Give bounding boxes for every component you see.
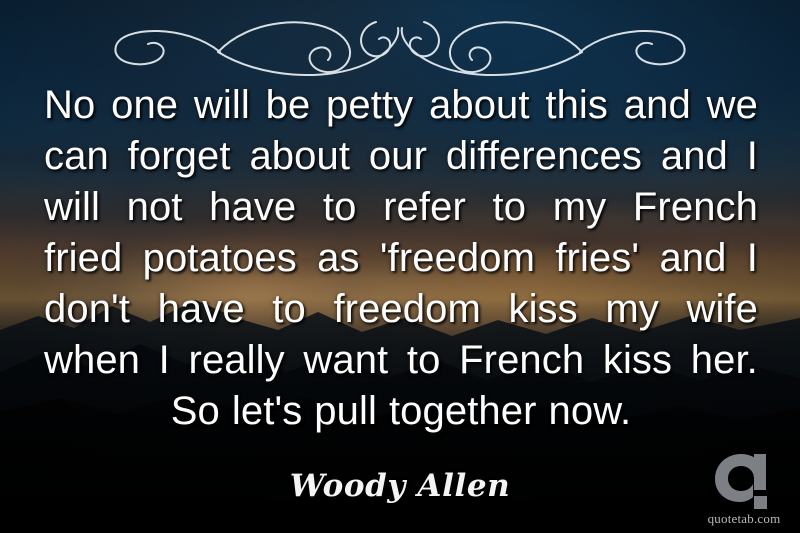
- quote-word: kiss: [603, 335, 672, 386]
- watermark[interactable]: quotetab.com: [696, 452, 792, 527]
- watermark-site-text: quotetab.com: [696, 511, 792, 527]
- quote-line: friedpotatoesas'freedomfries'andI: [44, 233, 758, 284]
- quote-word: forget: [128, 131, 231, 182]
- quote-word: 'freedom: [380, 233, 535, 284]
- quote-word: when: [44, 335, 140, 386]
- quote-word: together: [389, 386, 537, 437]
- quotetab-q-logo-icon: [713, 452, 775, 510]
- quote-author: Woody Allen: [0, 468, 800, 504]
- quote-line: don'thavetofreedomkissmywife: [44, 284, 758, 335]
- quote-word: to: [323, 182, 357, 233]
- quote-word: have: [158, 284, 245, 335]
- quote-word: French: [633, 182, 758, 233]
- quote-word: differences: [446, 131, 642, 182]
- quote-word: wife: [686, 284, 758, 335]
- quote-word: will: [44, 182, 100, 233]
- quote-word: and: [661, 131, 728, 182]
- quote-line: Solet'spulltogethernow.: [44, 386, 758, 437]
- quote-word: not: [127, 182, 183, 233]
- quote-word: No: [44, 80, 95, 131]
- quote-word: French: [459, 335, 584, 386]
- quote-word: I: [747, 233, 758, 284]
- quote-word: So: [171, 386, 220, 437]
- quote-word: freedom: [333, 284, 480, 335]
- quote-word: about: [429, 80, 530, 131]
- quote-word: our: [369, 131, 427, 182]
- quote-word: can: [44, 131, 109, 182]
- quote-word: to: [407, 335, 441, 386]
- quote-word: potatoes: [143, 233, 297, 284]
- quote-word: as: [317, 233, 359, 284]
- quote-word: really: [189, 335, 285, 386]
- quote-word: I: [159, 335, 170, 386]
- quote-word: about: [249, 131, 350, 182]
- quote-card: Noonewillbepettyaboutthisandwecanforgeta…: [0, 0, 800, 533]
- quote-word: refer: [383, 182, 466, 233]
- quote-word: kiss: [508, 284, 577, 335]
- quote-word: my: [605, 284, 659, 335]
- quote-line: canforgetaboutourdifferencesandI: [44, 131, 758, 182]
- quote-line: Noonewillbepettyaboutthisandwe: [44, 80, 758, 131]
- quote-word: one: [111, 80, 178, 131]
- quote-word: fried: [44, 233, 122, 284]
- quote-line: willnothavetorefertomyFrench: [44, 182, 758, 233]
- quote-word: I: [747, 131, 758, 182]
- quote-line: whenIreallywanttoFrenchkissher.: [44, 335, 758, 386]
- quote-word: we: [707, 80, 758, 131]
- quote-word: to: [493, 182, 527, 233]
- quote-word: now.: [549, 386, 632, 437]
- flourish-ornament-icon: [100, 8, 700, 80]
- quote-word: and: [659, 233, 726, 284]
- quote-word: let's: [232, 386, 302, 437]
- quote-word: pull: [314, 386, 377, 437]
- quote-word: will: [194, 80, 250, 131]
- quote-word: fries': [555, 233, 639, 284]
- quote-word: have: [209, 182, 296, 233]
- quote-word: and: [624, 80, 691, 131]
- quote-word: don't: [44, 284, 130, 335]
- quote-word: my: [553, 182, 607, 233]
- quote-word: want: [303, 335, 388, 386]
- quote-word: be: [266, 80, 311, 131]
- quote-word: petty: [326, 80, 413, 131]
- quote-word: her.: [691, 335, 758, 386]
- quote-text: Noonewillbepettyaboutthisandwecanforgeta…: [44, 80, 758, 437]
- quote-word: to: [272, 284, 306, 335]
- quote-word: this: [545, 80, 608, 131]
